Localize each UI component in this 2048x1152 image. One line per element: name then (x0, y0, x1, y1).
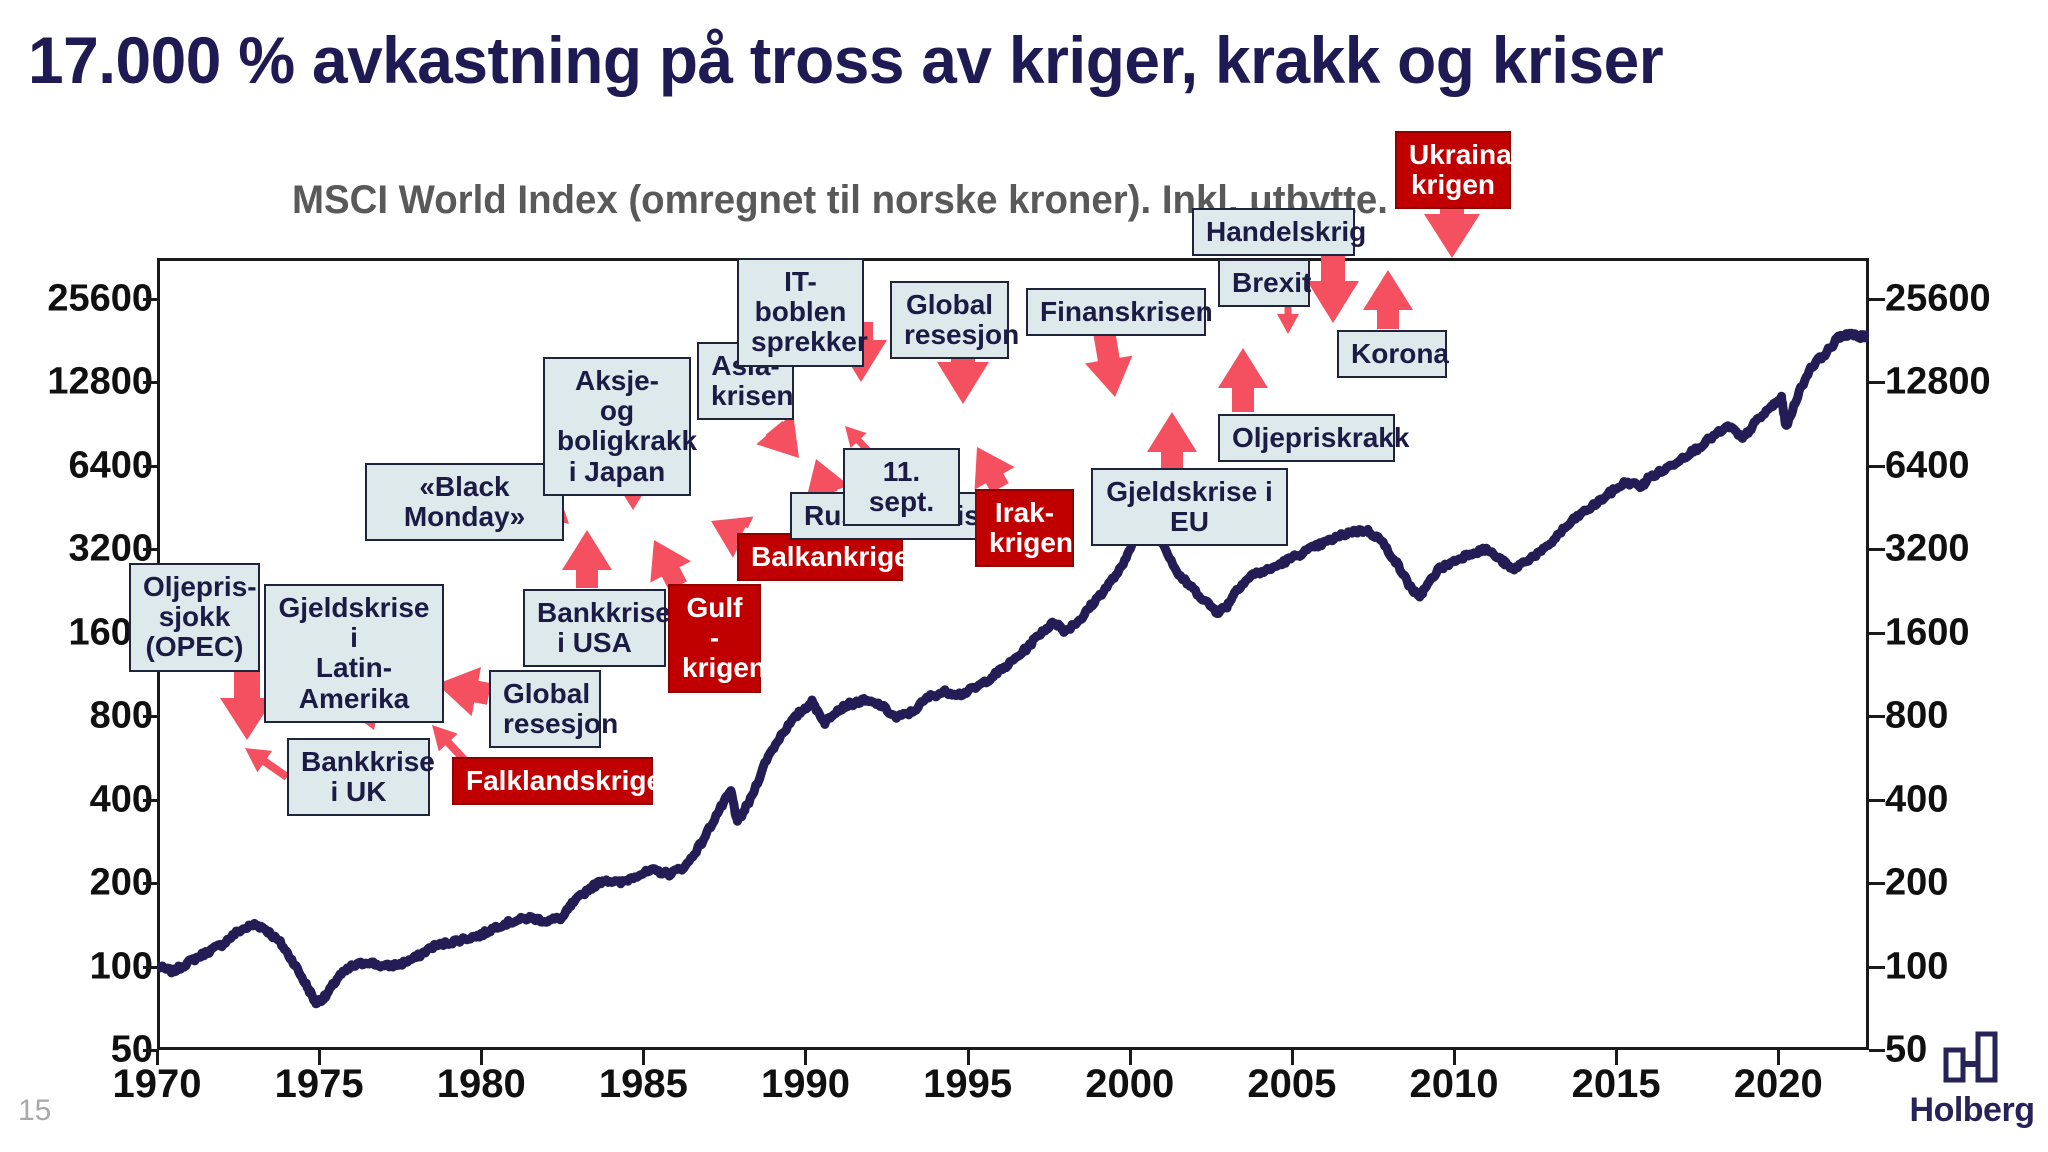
x-axis-tick-label: 1970 (113, 1062, 202, 1107)
y-axis-tick-mark (1869, 799, 1885, 802)
annotation-box-it-boblen-sprekker[interactable]: IT-boblen sprekker (737, 258, 864, 367)
x-axis-tick-mark (1453, 1050, 1456, 1065)
x-axis-tick-mark (480, 1050, 483, 1065)
x-axis-tick-mark (156, 1050, 159, 1065)
annotation-box-oljeprissjokk[interactable]: Oljepris- sjokk (OPEC) (129, 563, 260, 672)
x-axis-tick-label: 2020 (1734, 1062, 1823, 1107)
annotation-box-bankkrise-uk[interactable]: Bankkrise i UK (287, 738, 430, 816)
y-axis-tick-mark (1869, 715, 1885, 718)
y-axis-tick-label-right: 100 (1885, 945, 2048, 988)
x-axis-tick-mark (1777, 1050, 1780, 1065)
page-number: 15 (18, 1094, 51, 1128)
x-axis-tick-label: 2005 (1247, 1062, 1336, 1107)
y-axis-tick-mark (1869, 465, 1885, 468)
y-axis-tick-mark (1869, 381, 1885, 384)
y-axis-tick-label-left: 6400 (0, 444, 153, 487)
y-axis-tick-label-left: 400 (0, 778, 153, 821)
x-axis-tick-label: 1995 (923, 1062, 1012, 1107)
y-axis-tick-label-left: 200 (0, 862, 153, 905)
annotation-box-gulf-krigen[interactable]: Gulf - krigen (668, 584, 761, 693)
y-axis-tick-mark (1869, 1049, 1885, 1052)
x-axis-tick-label: 2000 (1085, 1062, 1174, 1107)
annotation-box-handelskrig[interactable]: Handelskrig (1192, 208, 1355, 256)
annotation-box-balkankrigen[interactable]: Balkankrigen (737, 533, 903, 581)
annotation-box-aksje-boligkrakk-japan[interactable]: Aksje- og boligkrakk i Japan (543, 357, 691, 496)
y-axis-tick-label-left: 800 (0, 695, 153, 738)
y-axis-tick-label-left: 100 (0, 945, 153, 988)
y-axis-tick-label-right: 3200 (1885, 528, 2048, 571)
x-axis-tick-mark (642, 1050, 645, 1065)
annotation-box-global-resesjon-2[interactable]: Global resesjon (890, 281, 1009, 359)
y-axis-tick-mark (1869, 298, 1885, 301)
y-axis-tick-label-left: 12800 (0, 361, 153, 404)
holberg-logo: Holberg (1908, 1030, 2036, 1130)
annotation-box-finanskrisen[interactable]: Finanskrisen (1026, 288, 1206, 336)
y-axis-tick-label-right: 6400 (1885, 444, 2048, 487)
y-axis-tick-label-right: 200 (1885, 862, 2048, 905)
x-axis-tick-label: 1985 (599, 1062, 688, 1107)
annotation-box-bankkrise-usa[interactable]: Bankkrise i USA (523, 589, 666, 667)
y-axis-tick-label-right: 800 (1885, 695, 2048, 738)
annotation-box-oljepriskrakk[interactable]: Oljepriskrakk (1218, 414, 1395, 462)
y-axis-tick-mark (1869, 632, 1885, 635)
annotation-box-black-monday[interactable]: «Black Monday» (365, 463, 564, 541)
annotation-box-gjeldskrise-eu[interactable]: Gjeldskrise i EU (1091, 468, 1288, 546)
annotation-box-korona[interactable]: Korona (1337, 330, 1447, 378)
annotation-box-11-sept[interactable]: 11. sept. (843, 448, 960, 526)
annotation-box-ukraina-krigen[interactable]: Ukraina- krigen (1395, 131, 1511, 209)
annotation-box-gjeldskrise-latin-amerika[interactable]: Gjeldskrise i Latin-Amerika (264, 584, 444, 723)
x-axis-tick-label: 2015 (1572, 1062, 1661, 1107)
y-axis-tick-mark (1869, 882, 1885, 885)
page-title: 17.000 % avkastning på tross av kriger, … (28, 22, 1968, 98)
annotation-box-irak-krigen[interactable]: Irak- krigen (975, 489, 1074, 567)
x-axis-tick-mark (967, 1050, 970, 1065)
x-axis-tick-label: 2010 (1409, 1062, 1498, 1107)
x-axis-tick-mark (1129, 1050, 1132, 1065)
x-axis-tick-mark (804, 1050, 807, 1065)
y-axis-tick-label-right: 1600 (1885, 611, 2048, 654)
holberg-mark-icon (1936, 1030, 2008, 1084)
annotation-box-falklandskrigen[interactable]: Falklandskrigen (452, 757, 653, 805)
x-axis-tick-label: 1990 (761, 1062, 850, 1107)
annotation-box-brexit[interactable]: Brexit (1218, 259, 1310, 307)
x-axis-tick-mark (1291, 1050, 1294, 1065)
x-axis-tick-mark (318, 1050, 321, 1065)
y-axis-tick-mark (1869, 548, 1885, 551)
y-axis-tick-label-right: 25600 (1885, 278, 2048, 321)
y-axis-tick-mark (1869, 966, 1885, 969)
holberg-logo-text: Holberg (1908, 1091, 2036, 1130)
x-axis-tick-label: 1975 (275, 1062, 364, 1107)
annotation-box-global-resesjon-1[interactable]: Global resesjon (489, 670, 601, 748)
y-axis-tick-label-left: 25600 (0, 278, 153, 321)
x-axis-tick-label: 1980 (437, 1062, 526, 1107)
y-axis-tick-label-right: 400 (1885, 778, 2048, 821)
y-axis-tick-label-right: 12800 (1885, 361, 2048, 404)
x-axis-tick-mark (1615, 1050, 1618, 1065)
